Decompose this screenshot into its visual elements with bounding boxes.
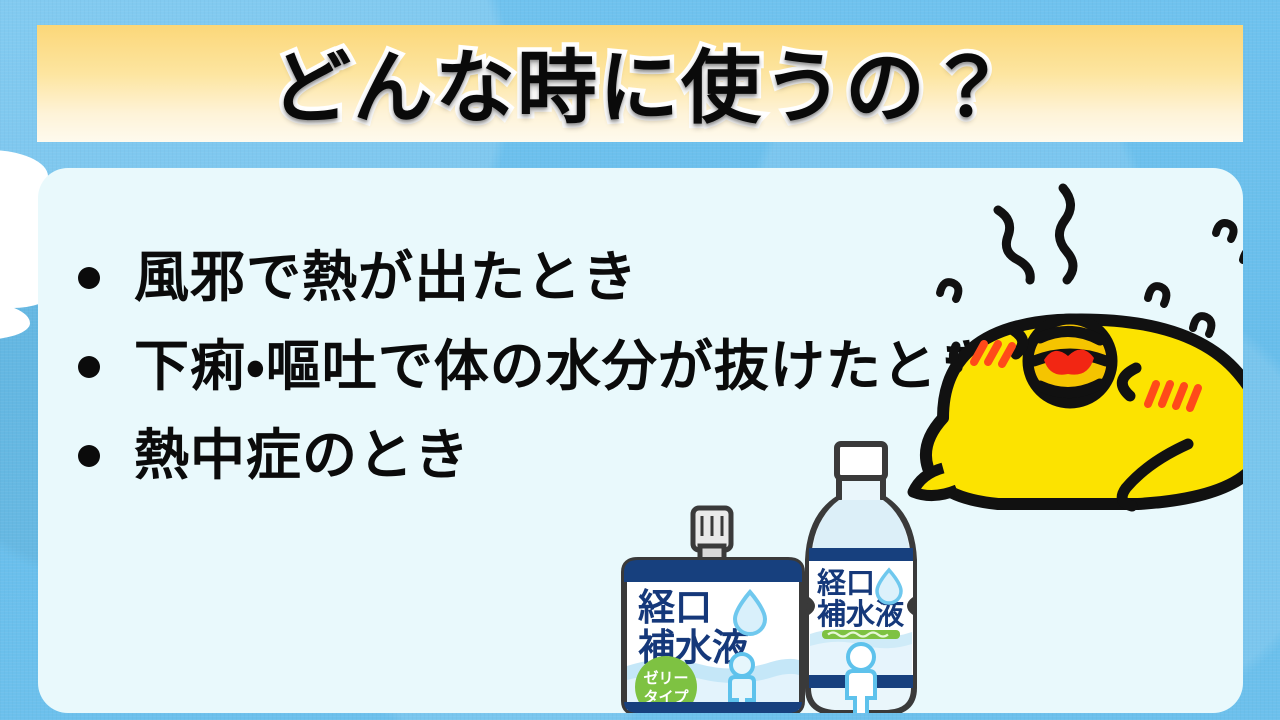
bullet-dot-icon: [78, 445, 100, 467]
list-item-label: 風邪で熱が出たとき: [134, 250, 638, 305]
bottle-product-line1: 経口: [817, 566, 875, 600]
person-pictogram-icon: [847, 644, 875, 713]
jelly-badge-line2: タイプ: [643, 688, 689, 706]
jelly-badge-line1: ゼリー: [643, 669, 688, 687]
person-pictogram-icon: [730, 654, 754, 713]
content-card: 風邪で熱が出たとき 下痢・嘔吐で体の水分が抜けたとき 熱中症のとき: [38, 168, 1243, 713]
list-item: 風邪で熱が出たとき: [78, 250, 1238, 305]
bullet-dot-icon: [78, 356, 100, 378]
water-drop-icon: [735, 592, 765, 634]
jelly-pouch-illustration: 経口 補水液 ゼリー タイプ: [624, 508, 802, 713]
water-drop-icon: [877, 570, 901, 603]
jelly-product-line1: 経口: [638, 586, 712, 629]
jelly-product-line2: 補水液: [638, 626, 750, 669]
list-item: 熱中症のとき: [78, 428, 1238, 483]
list-item-label: 熱中症のとき: [134, 428, 470, 483]
page-title: どんな時に使うの？: [37, 23, 1243, 139]
list-item: 下痢・嘔吐で体の水分が抜けたとき: [78, 339, 1238, 394]
bullet-dot-icon: [78, 267, 100, 289]
list-item-label: 下痢・嘔吐で体の水分が抜けたとき: [134, 339, 994, 394]
bottle-product-line2: 補水液: [817, 597, 905, 631]
title-banner: どんな時に使うの？: [37, 25, 1243, 142]
usage-bullet-list: 風邪で熱が出たとき 下痢・嘔吐で体の水分が抜けたとき 熱中症のとき: [78, 250, 1238, 517]
jelly-type-badge: [635, 656, 697, 713]
